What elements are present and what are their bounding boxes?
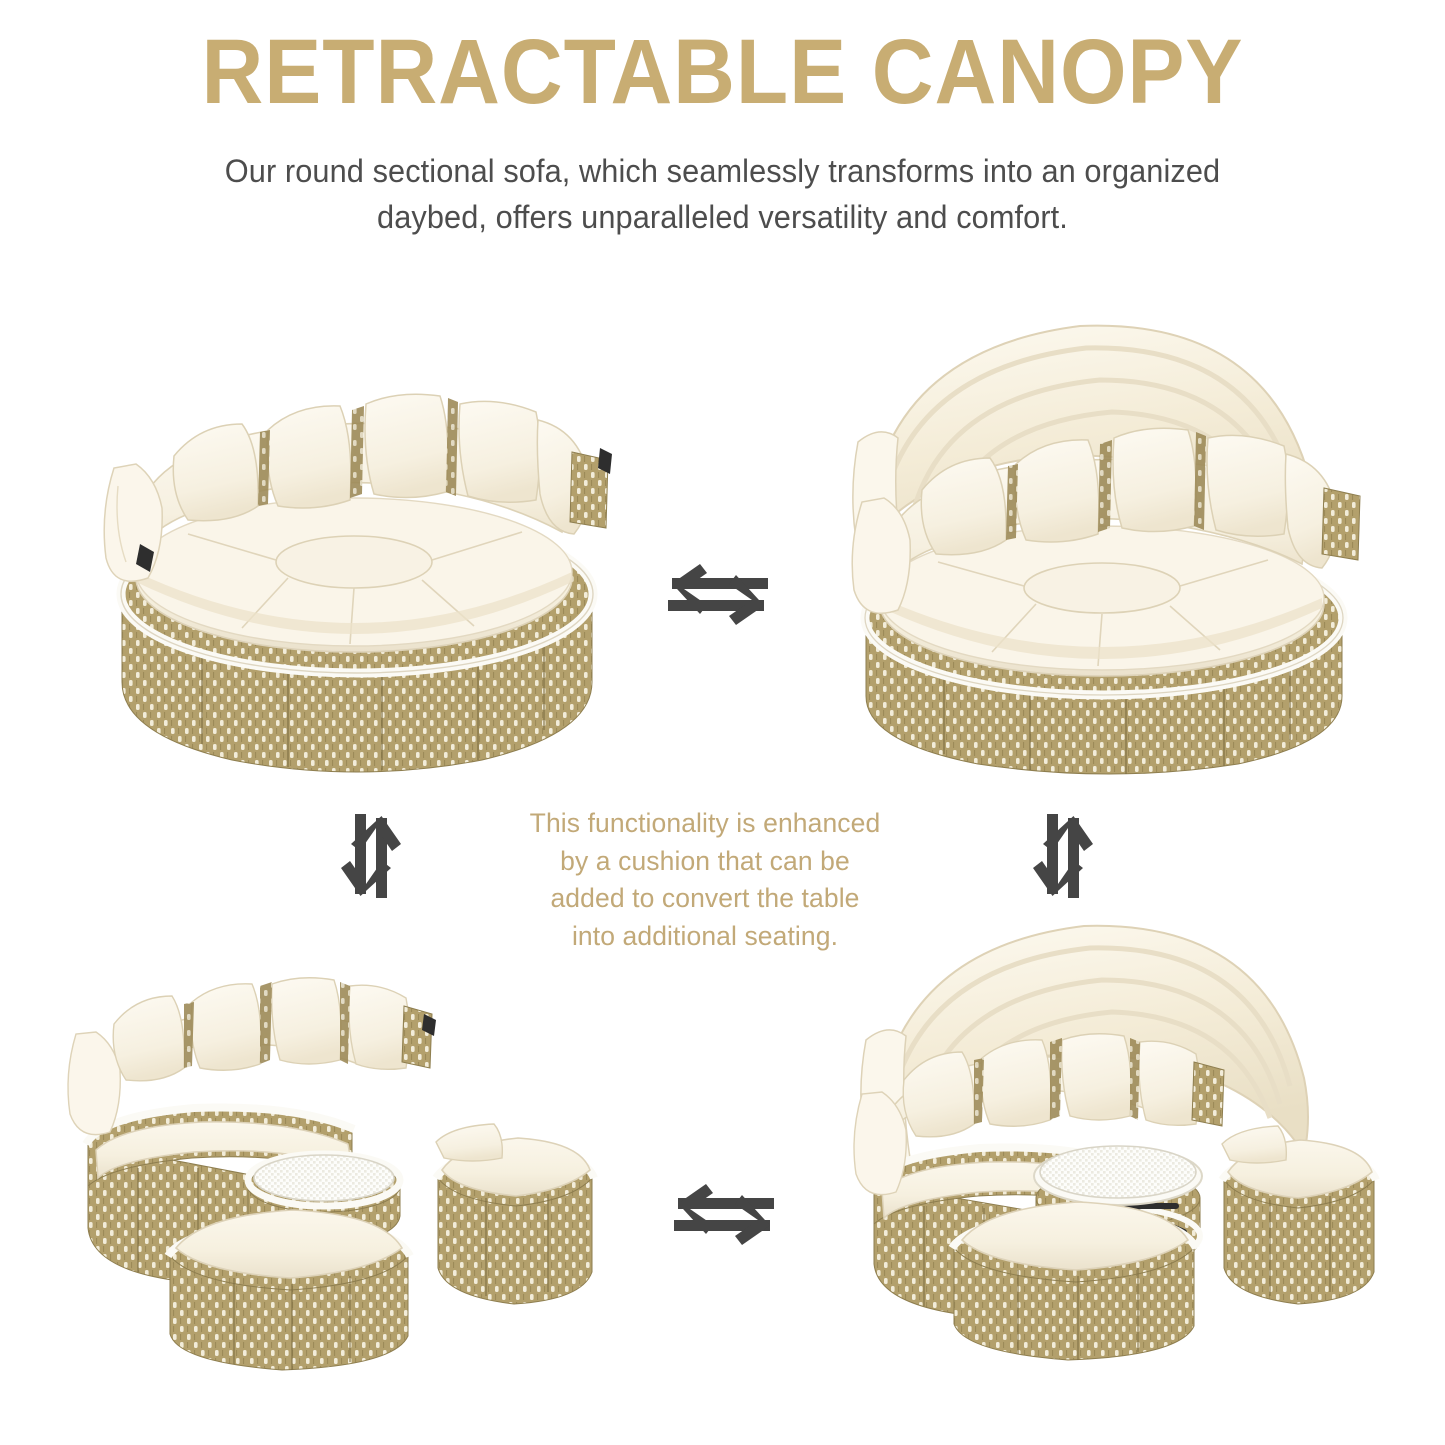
folded-canopy-fabric <box>852 498 910 613</box>
caption-line-2: by a cushion that can be <box>480 843 930 881</box>
folded-canopy-fabric <box>104 464 162 581</box>
arrow-vertical-right <box>1022 808 1114 904</box>
caption-line-1: This functionality is enhanced <box>480 805 930 843</box>
front-ottoman <box>952 1202 1196 1360</box>
arrow-horizontal-bottom <box>668 1168 780 1260</box>
right-ottoman <box>1222 1126 1376 1304</box>
page-title: RETRACTABLE CANOPY <box>51 26 1395 120</box>
subtitle-line-1: Our round sectional sofa, which seamless… <box>29 148 1416 194</box>
right-bolster <box>537 420 612 534</box>
front-ottoman <box>168 1210 410 1370</box>
product-photo-daybed-canopy-extended <box>818 292 1378 772</box>
arrow-horizontal-top <box>662 548 774 640</box>
page-subtitle: Our round sectional sofa, which seamless… <box>29 148 1416 241</box>
subtitle-line-2: daybed, offers unparalleled versatility … <box>29 194 1416 240</box>
header: RETRACTABLE CANOPY Our round sectional s… <box>0 0 1445 241</box>
right-ottoman <box>436 1124 594 1304</box>
arrow-vertical-left <box>330 808 422 904</box>
infographic-page: RETRACTABLE CANOPY Our round sectional s… <box>0 0 1445 1445</box>
product-photo-daybed-canopy-retracted <box>92 382 622 782</box>
product-photo-sectional-separated <box>52 972 652 1372</box>
product-photo-sectional-separated-canopy <box>812 892 1412 1362</box>
